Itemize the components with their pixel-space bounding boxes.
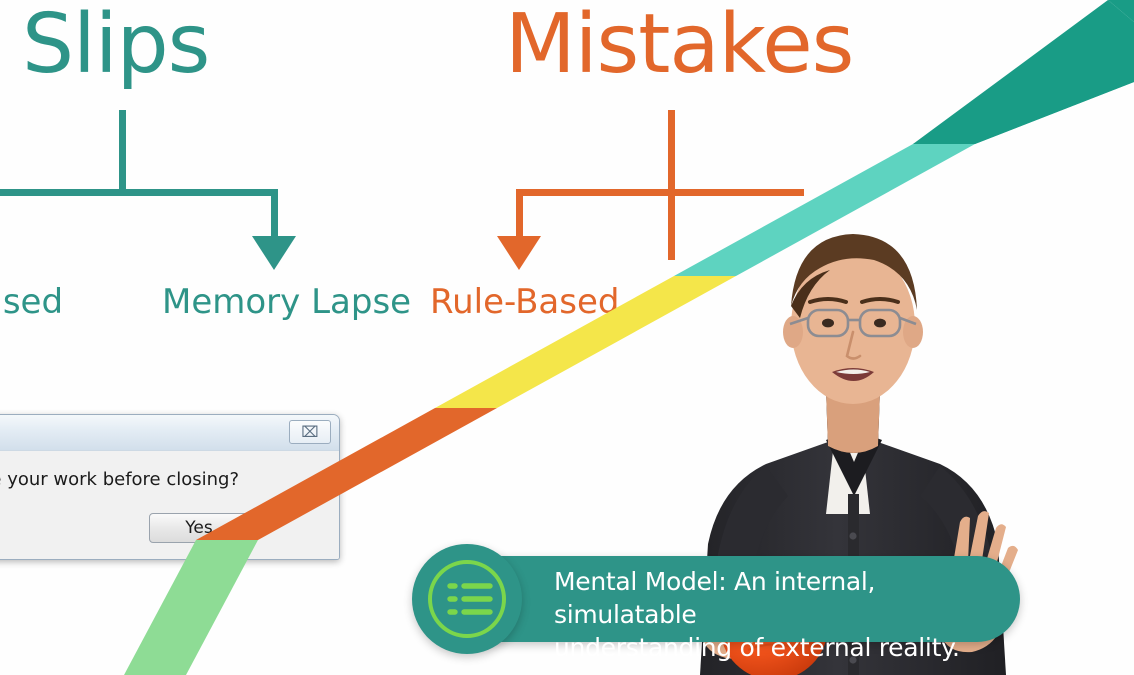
leaf-label-memory-lapse: Memory Lapse — [162, 285, 411, 319]
slips-tree-crossbar — [0, 189, 278, 196]
yes-button[interactable]: Yes — [149, 513, 249, 543]
mistakes-tree-crossbar — [516, 189, 804, 196]
dialog-message: like to save your work before closing? — [0, 469, 321, 490]
leaf-label-skill-based: ased — [0, 285, 63, 319]
caption-line-1: Mental Model: An internal, simulatable — [554, 565, 1004, 631]
bullet-list-icon — [412, 544, 522, 654]
dialog-titlebar: ⌧ — [0, 415, 339, 451]
video-frame: Slips Mistakes ased Memory Lapse Rule-Ba… — [0, 0, 1134, 675]
close-icon[interactable]: ⌧ — [289, 420, 331, 444]
dialog-body: like to save your work before closing? Y… — [0, 451, 339, 560]
mistakes-heading: Mistakes — [505, 4, 853, 86]
mistakes-tree-arrowhead — [497, 236, 541, 270]
leaf-label-rule-based: Rule-Based — [430, 285, 619, 319]
caption-text-block: Mental Model: An internal, simulatable u… — [554, 565, 1004, 664]
save-work-dialog: ⌧ like to save your work before closing?… — [0, 414, 340, 560]
lower-third-caption: Mental Model: An internal, simulatable u… — [430, 556, 1020, 642]
slips-tree-arrowhead — [252, 236, 296, 270]
slips-heading: Slips — [22, 4, 209, 86]
caption-badge — [412, 544, 522, 654]
slips-tree-stem — [119, 110, 126, 194]
caption-line-2: understanding of external reality. — [554, 631, 1004, 664]
